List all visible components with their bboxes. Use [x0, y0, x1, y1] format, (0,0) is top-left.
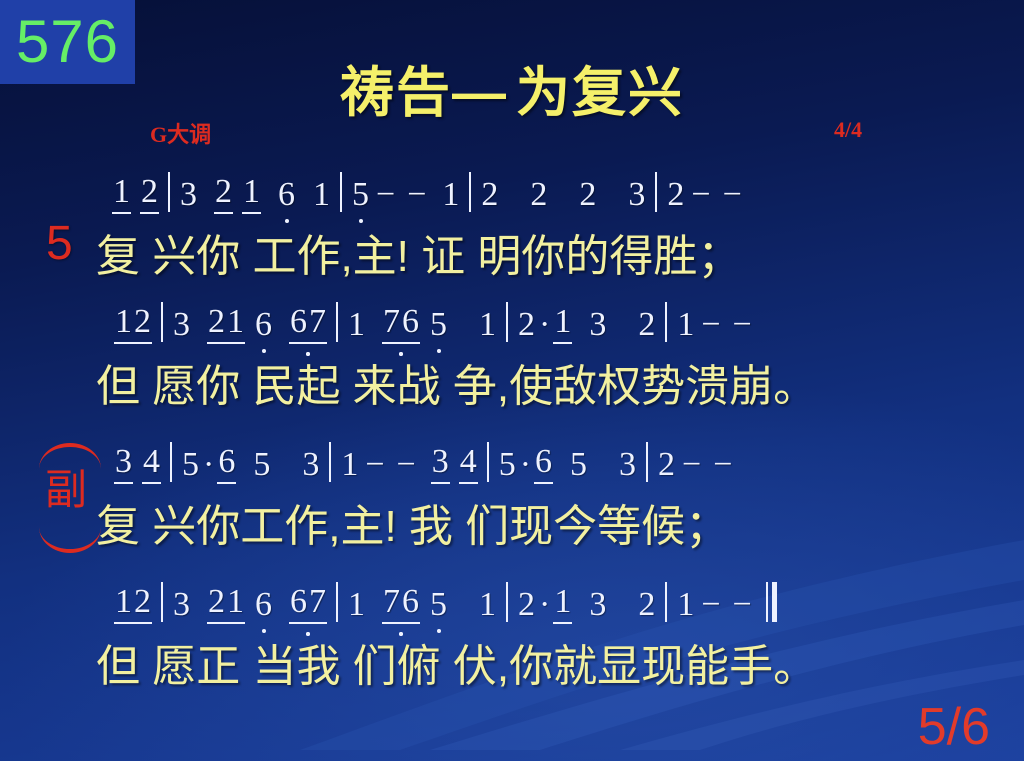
barline: [329, 442, 331, 482]
hold-dash: −: [370, 176, 401, 214]
hold-dash: −: [401, 176, 432, 214]
note-34b: 34: [431, 443, 478, 484]
note-21: 21: [207, 303, 245, 344]
note-1c: 1: [441, 176, 460, 214]
note-2-dotted: 2: [517, 586, 536, 624]
title-part-2: 为复兴: [516, 63, 684, 123]
barline: [336, 582, 338, 622]
note-2b: 2: [529, 176, 548, 214]
note-1d: 1: [676, 306, 695, 344]
note-1b: 1: [478, 306, 497, 344]
note-5-dotted: 5: [181, 446, 200, 484]
barline: [161, 582, 163, 622]
barline: [340, 172, 342, 212]
note-3b: 3: [618, 446, 637, 484]
note-2d: 2: [666, 176, 685, 214]
hold-dash: −: [695, 586, 726, 624]
note-21: 21: [207, 583, 245, 624]
verse-number: 5: [46, 220, 73, 268]
note-5b: 5: [569, 446, 588, 484]
augmentation-dot: ·: [200, 446, 217, 484]
note-1: 1: [347, 586, 366, 624]
page-number: 5/6: [918, 701, 990, 753]
page-title: 祷告—为复兴: [0, 48, 1024, 127]
note-6-low: 6: [254, 586, 273, 624]
barline: [665, 302, 667, 342]
note-5-low: 5: [429, 586, 448, 624]
music-system-1: 12 3 21 6 1 5 −− 1 2 2 2 3 2−− 5 复 兴你 工作…: [0, 158, 1024, 284]
hold-dash: −: [685, 176, 716, 214]
note-12: 12: [114, 583, 152, 624]
note-2-dotted: 2: [517, 306, 536, 344]
hold-dash: −: [727, 306, 758, 344]
hymn-slide: 576 祷告—为复兴 G大调 4/4 12 3 21 6 1 5 −− 1 2 …: [0, 0, 1024, 761]
note-6-low: 6: [277, 176, 296, 214]
note-2a: 2: [480, 176, 499, 214]
barline: [665, 582, 667, 622]
augmentation-dot: ·: [536, 306, 553, 344]
note-6b: 6: [534, 443, 553, 484]
time-signature: 4/4: [834, 117, 862, 143]
note-2b: 2: [637, 586, 656, 624]
hold-dash: −: [695, 306, 726, 344]
note-12: 12: [114, 303, 152, 344]
barline: [655, 172, 657, 212]
augmentation-dot: ·: [517, 446, 534, 484]
hold-dash: −: [707, 446, 738, 484]
barline: [469, 172, 471, 212]
note-2: 2: [657, 446, 676, 484]
note-34: 34: [114, 443, 161, 484]
note-21: 21: [214, 173, 261, 214]
note-2b: 2: [637, 306, 656, 344]
note-1b: 1: [312, 176, 331, 214]
note-1d: 1: [676, 586, 695, 624]
note-3: 3: [179, 176, 198, 214]
note-5-low: 5: [429, 306, 448, 344]
note-3: 3: [301, 446, 320, 484]
note-1b: 1: [478, 586, 497, 624]
music-system-2: 12 3 21 6 67 1 76 5 1 2·1 3 2 1−− 但 愿你 民…: [0, 288, 1024, 414]
title-dash: —: [452, 63, 516, 123]
note-1: 12: [112, 173, 159, 214]
hold-dash: −: [391, 446, 422, 484]
final-barline-icon: [766, 582, 777, 622]
notation-line-4: 12 3 21 6 67 1 76 5 1 2·1 3 2 1−−: [0, 568, 1024, 624]
hold-dash: −: [676, 446, 707, 484]
note-5-dotted-b: 5: [498, 446, 517, 484]
lyrics-line-1: 复 兴你 工作,主! 证 明你的得胜；: [0, 220, 1024, 284]
music-system-4: 12 3 21 6 67 1 76 5 1 2·1 3 2 1−− 但 愿正 当…: [0, 568, 1024, 694]
note-1: 1: [347, 306, 366, 344]
note-3: 3: [172, 586, 191, 624]
note-3b: 3: [627, 176, 646, 214]
note-67-low: 67: [289, 583, 327, 624]
barline: [506, 302, 508, 342]
hold-dash: −: [727, 586, 758, 624]
note-5-low: 5: [351, 176, 370, 214]
note-1: 1: [340, 446, 359, 484]
lyrics-line-3: 复 兴你工作,主! 我 们现今等候；: [0, 490, 1024, 554]
barline: [336, 302, 338, 342]
notation-line-2: 12 3 21 6 67 1 76 5 1 2·1 3 2 1−−: [0, 288, 1024, 344]
note-76-low: 76: [382, 303, 420, 344]
note-6-low: 6: [254, 306, 273, 344]
note-3b: 3: [588, 586, 607, 624]
note-67-low: 67: [289, 303, 327, 344]
barline: [161, 302, 163, 342]
barline: [487, 442, 489, 482]
note-6: 6: [217, 443, 236, 484]
title-part-1: 祷告: [340, 63, 452, 123]
key-signature: G大调: [150, 117, 211, 149]
barline: [646, 442, 648, 482]
barline: [506, 582, 508, 622]
note-5: 5: [252, 446, 271, 484]
notation-line-3: 34 5·6 5 3 1−− 34 5·6 5 3 2−−: [0, 428, 1024, 484]
note-76-low: 76: [382, 583, 420, 624]
barline: [170, 442, 172, 482]
note-3: 3: [172, 306, 191, 344]
music-system-3: 34 5·6 5 3 1−− 34 5·6 5 3 2−− 复 兴你工作,主! …: [0, 428, 1024, 554]
note-1c: 1: [553, 303, 572, 344]
augmentation-dot: ·: [536, 586, 553, 624]
note-3b: 3: [588, 306, 607, 344]
note-2c: 2: [578, 176, 597, 214]
note-1c: 1: [553, 583, 572, 624]
hold-dash: −: [717, 176, 748, 214]
notation-line-1: 12 3 21 6 1 5 −− 1 2 2 2 3 2−−: [0, 158, 1024, 214]
lyrics-line-2: 但 愿你 民起 来战 争,使敌权势溃崩。: [0, 350, 1024, 414]
lyrics-line-4: 但 愿正 当我 们俯 伏,你就显现能手。: [0, 630, 1024, 694]
hold-dash: −: [359, 446, 390, 484]
barline: [168, 172, 170, 212]
